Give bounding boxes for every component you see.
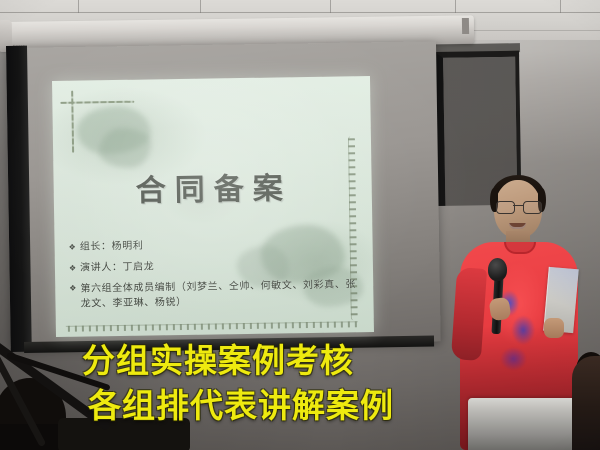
- audience-member-right: [572, 356, 600, 450]
- ceiling-grid-line: [200, 0, 201, 13]
- caption-overlay: 分组实操案例考核 各组排代表讲解案例: [82, 338, 482, 428]
- caption-line-1: 分组实操案例考核: [82, 338, 482, 383]
- glasses-lens: [523, 201, 542, 214]
- ceiling-grid-line: [78, 0, 79, 13]
- slide-bullet-list: ❖ 组长：杨明利 ❖ 演讲人：丁启龙 ❖ 第六组全体成员编制（刘梦兰、仝帅、何敏…: [69, 236, 366, 318]
- presenter-hand-holding-papers: [544, 318, 564, 338]
- glasses-bridge: [513, 205, 523, 206]
- slide-bullet-text: 组长：杨明利: [80, 240, 144, 255]
- ceiling-grid-line: [330, 0, 331, 13]
- slide-bullet-item: ❖ 演讲人：丁启龙: [69, 257, 365, 276]
- diamond-bullet-icon: ❖: [69, 282, 76, 296]
- slide-decoration-wavy-border-bottom: [66, 321, 358, 332]
- ceiling-grid-line: [560, 0, 561, 13]
- diamond-bullet-icon: ❖: [69, 261, 76, 275]
- glasses-icon: [495, 201, 541, 212]
- slide-bullet-text: 演讲人：丁启龙: [80, 260, 154, 276]
- glasses-lens: [496, 201, 515, 214]
- slide-decoration-vertical-line: [71, 91, 74, 153]
- projected-slide: 合同备案 ❖ 组长：杨明利 ❖ 演讲人：丁启龙 ❖ 第六组全体成员编制（刘梦兰、…: [52, 76, 374, 337]
- classroom-photo-scene: Screen 合同备案 ❖ 组长：杨明利 ❖ 演讲人：丁启龙 ❖: [0, 0, 600, 450]
- ceiling-grid-line: [0, 12, 600, 13]
- caption-line-2: 各组排代表讲解案例: [88, 383, 482, 428]
- ink-wash-blob: [99, 127, 152, 168]
- slide-bullet-item: ❖ 第六组全体成员编制（刘梦兰、仝帅、何敏文、刘彩真、张龙文、李亚琳、杨锐）: [69, 277, 365, 312]
- diamond-bullet-icon: ❖: [69, 241, 76, 255]
- slide-title: 合同备案: [135, 163, 292, 209]
- slide-bullet-item: ❖ 组长：杨明利: [69, 236, 365, 255]
- roller-mount-bracket: [462, 18, 469, 34]
- ceiling-grid-line: [455, 0, 456, 13]
- microphone-head-icon: [488, 258, 507, 281]
- slide-bullet-text: 第六组全体成员编制（刘梦兰、仝帅、何敏文、刘彩真、张龙文、李亚琳、杨锐）: [80, 277, 365, 311]
